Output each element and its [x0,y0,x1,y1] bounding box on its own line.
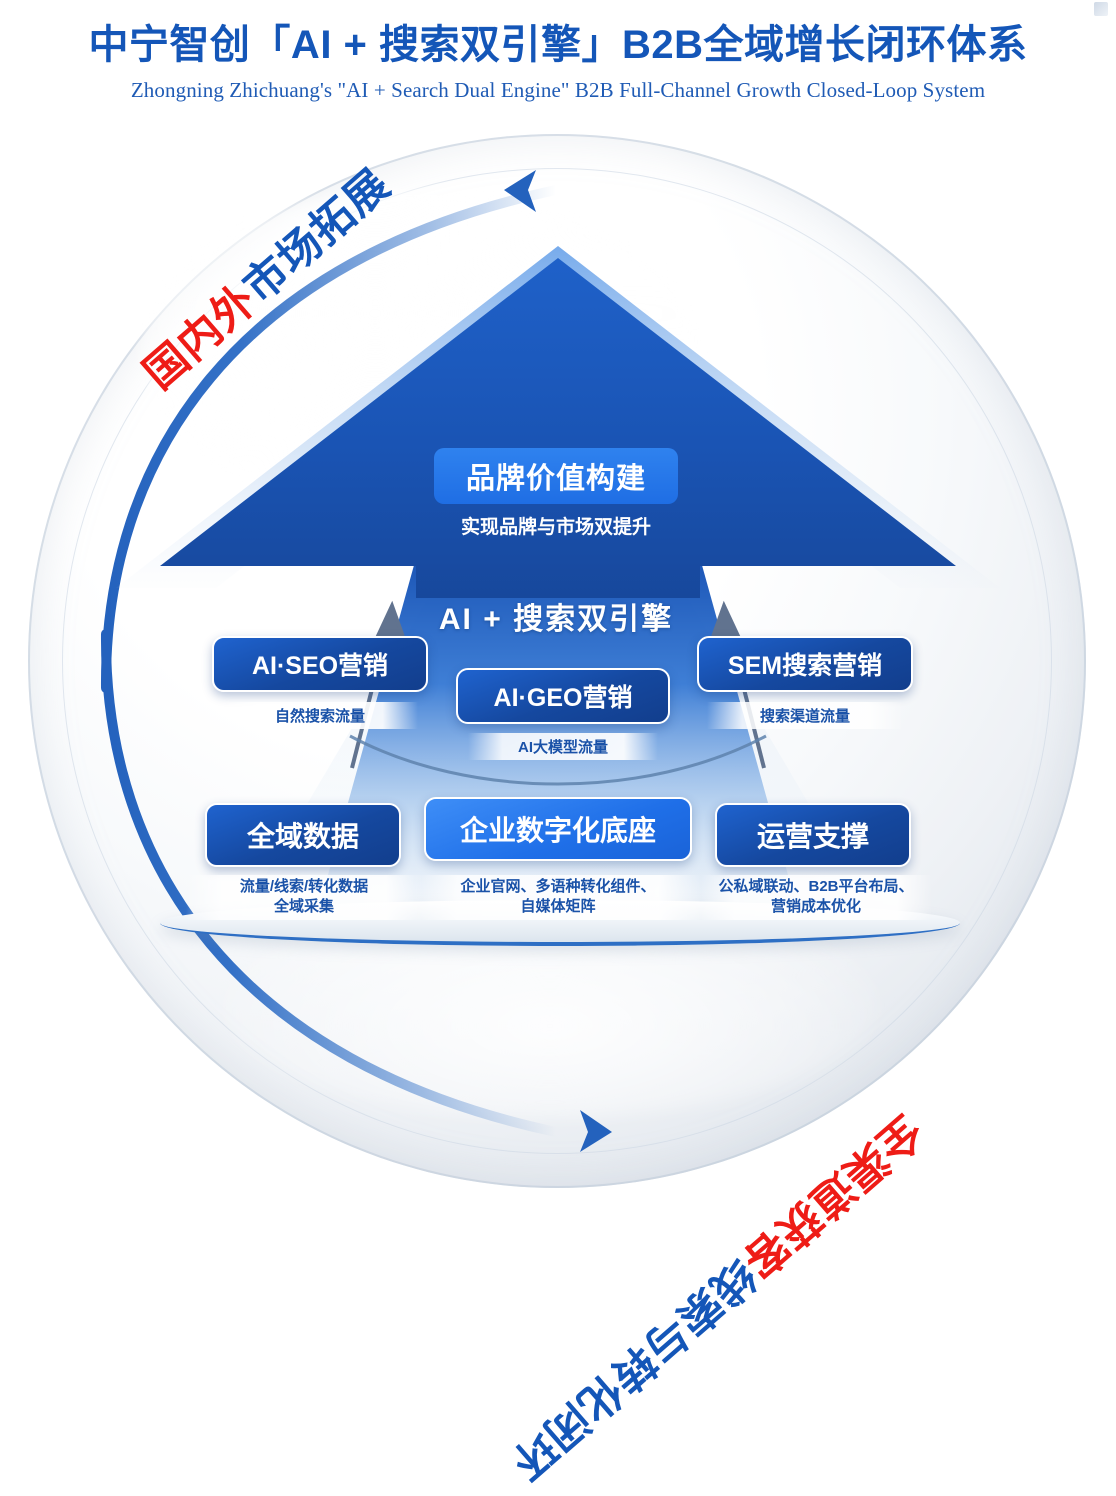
arc-label-acquisition-loop-blue: 线索与转化闭环 [501,1250,765,1488]
page-subtitle: Zhongning Zhichuang's "AI + Search Dual … [0,70,1116,103]
desc-line: 流量/线索/转化数据 [186,877,422,897]
desc-line: 公私域联动、B2B平台布局、 [700,877,932,897]
node-sem-label: SEM搜索营销 [728,646,882,682]
desc-full-domain-data: 流量/线索/转化数据 全域采集 [186,875,422,920]
desc-enterprise-digital-base: 企业官网、多语种转化组件、 自媒体矩阵 [414,875,702,920]
node-enterprise-digital-base[interactable]: 企业数字化底座 [424,797,692,861]
caption-ai-seo: 自然搜索流量 [222,702,418,729]
desc-line: 自媒体矩阵 [414,897,702,917]
brand-value-subtitle: 实现品牌与市场双提升 [404,512,708,539]
caption-sem: 搜索渠道流量 [707,702,903,729]
diagram-stage: 品牌价值构建 实现品牌与市场双提升 AI + 搜索双引擎 AI·SEO营销 自然… [0,128,1116,1194]
node-full-domain-data[interactable]: 全域数据 [205,803,401,867]
node-full-domain-data-label: 全域数据 [247,815,359,855]
page-header: 中宁智创「AI + 搜索双引擎」B2B全域增长闭环体系 Zhongning Zh… [0,0,1116,130]
node-ai-seo-marketing[interactable]: AI·SEO营销 [212,636,428,692]
node-ai-geo-marketing[interactable]: AI·GEO营销 [456,668,670,724]
node-enterprise-digital-base-label: 企业数字化底座 [460,809,656,849]
arrow-up-icon [160,258,956,598]
node-ai-seo-label: AI·SEO营销 [252,646,388,682]
brand-value-label: 品牌价值构建 [466,455,646,497]
caption-ai-geo: AI大模型流量 [468,733,658,760]
desc-operations-support: 公私域联动、B2B平台布局、 营销成本优化 [700,875,932,920]
node-operations-support-label: 运营支撑 [757,815,869,855]
corner-mark-icon [1094,2,1108,16]
growth-arrow-pyramid [0,128,1116,1194]
desc-line: 企业官网、多语种转化组件、 [414,877,702,897]
desc-line: 全域采集 [186,897,422,917]
brand-value-box[interactable]: 品牌价值构建 [434,448,678,504]
page-title: 中宁智创「AI + 搜索双引擎」B2B全域增长闭环体系 [0,0,1116,70]
node-sem-marketing[interactable]: SEM搜索营销 [697,636,913,692]
node-ai-geo-label: AI·GEO营销 [494,678,633,714]
dual-engine-label: AI + 搜索双引擎 [386,594,726,638]
node-operations-support[interactable]: 运营支撑 [715,803,911,867]
desc-line: 营销成本优化 [700,897,932,917]
